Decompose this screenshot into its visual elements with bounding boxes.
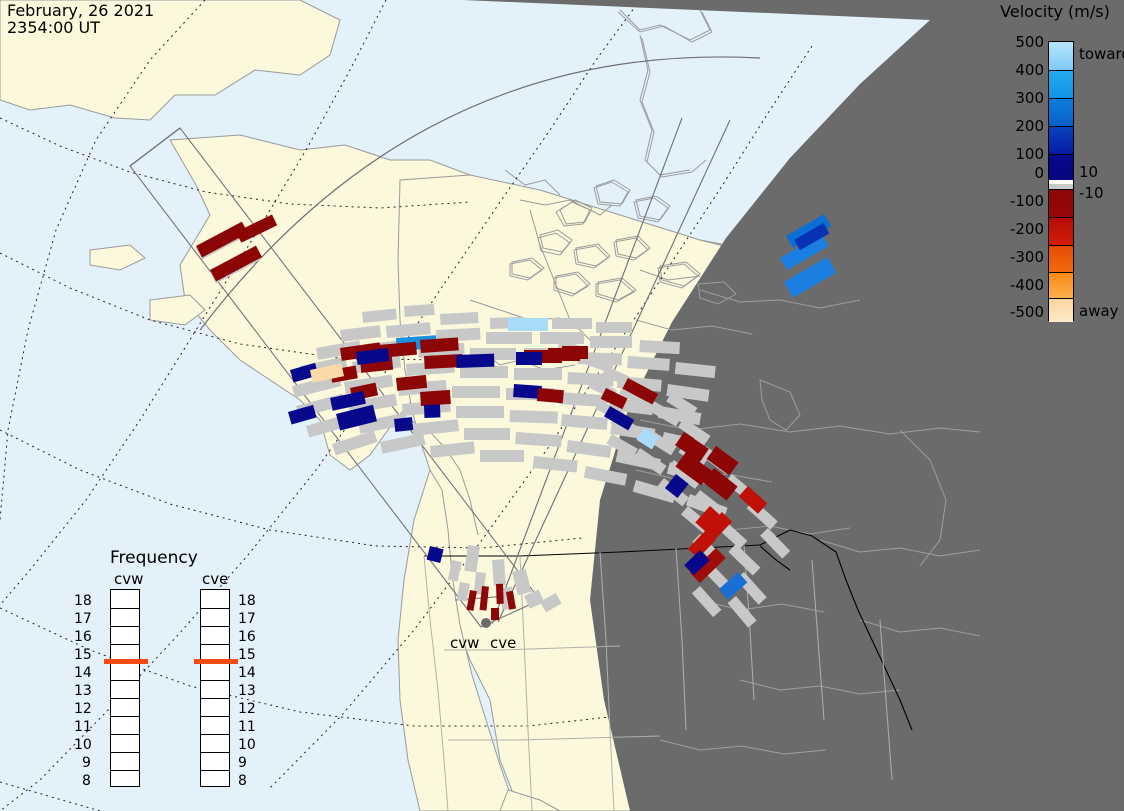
map-canvas[interactable]: cvw cve — [0, 0, 980, 811]
title-date: February, 26 2021 — [7, 2, 154, 19]
freq-tick-label-cve-8: 8 — [238, 773, 247, 789]
freq-tick-label-cvw-16: 16 — [74, 629, 92, 645]
colorbar-tick-neg300: -300 — [990, 248, 1044, 266]
radar-site-marker — [481, 618, 491, 628]
colorbar-away-label: away — [1079, 302, 1119, 320]
colorbar-segment-neg150 — [1049, 217, 1073, 245]
freq-tick-label-cvw-12: 12 — [74, 701, 92, 717]
freq-tick-label-cvw-8: 8 — [82, 773, 91, 789]
freq-tick-label-cve-10: 10 — [238, 737, 256, 753]
colorbar-neg-threshold-label: -10 — [1079, 184, 1104, 202]
freq-tick-label-cve-15: 15 — [238, 647, 256, 663]
freq-tick-label-cve-13: 13 — [238, 683, 256, 699]
freq-tick-label-cve-16: 16 — [238, 629, 256, 645]
freq-tick-label-cvw-15: 15 — [74, 647, 92, 663]
freq-tick-label-cve-11: 11 — [238, 719, 256, 735]
colorbar-toward-label: toward — [1079, 45, 1124, 63]
colorbar-tick-200: 200 — [990, 117, 1044, 135]
colorbar-segment-55 — [1049, 154, 1073, 180]
freq-tick-label-cvw-18: 18 — [74, 593, 92, 609]
superdarn-velocity-map: cvw cve February, 26 2021 2354:00 UT Fre… — [0, 0, 1124, 811]
frequency-marker-cve — [194, 659, 238, 664]
colorbar-segment-250 — [1049, 98, 1073, 126]
map-label-cvw: cvw — [450, 634, 479, 652]
colorbar-segment-zero — [1049, 180, 1073, 189]
freq-tick-label-cvw-11: 11 — [74, 719, 92, 735]
map-label-cve: cve — [490, 634, 516, 652]
frequency-radar-name-cvw: cvw — [114, 570, 143, 588]
colorbar-segment-450 — [1049, 42, 1073, 70]
velocity-colorbar-panel: Velocity (m/s) 500 400 300 200 100 0 -10… — [980, 0, 1124, 811]
freq-tick-label-cve-17: 17 — [238, 611, 256, 627]
colorbar-segment-350 — [1049, 70, 1073, 98]
freq-tick-label-cve-12: 12 — [238, 701, 256, 717]
colorbar-segment-150 — [1049, 126, 1073, 154]
colorbar-tick-0: 0 — [990, 164, 1044, 182]
frequency-marker-cvw — [104, 659, 148, 664]
title-time: 2354:00 UT — [7, 19, 154, 36]
freq-tick-label-cvw-14: 14 — [74, 665, 92, 681]
frequency-scale-cvw[interactable] — [110, 589, 140, 787]
cell-light-blue — [508, 318, 548, 331]
colorbar-tick-neg100: -100 — [990, 192, 1044, 210]
colorbar-segment-neg250 — [1049, 245, 1073, 272]
freq-tick-label-cvw-9: 9 — [82, 755, 91, 771]
colorbar-tick-neg200: -200 — [990, 220, 1044, 238]
frequency-legend-title: Frequency — [110, 548, 198, 568]
frequency-scale-cve[interactable] — [200, 589, 230, 787]
freq-tick-label-cvw-13: 13 — [74, 683, 92, 699]
colorbar-tick-neg400: -400 — [990, 276, 1044, 294]
map-graphics — [0, 0, 980, 811]
colorbar-segment-neg55 — [1049, 189, 1073, 217]
freq-tick-label-cve-18: 18 — [238, 593, 256, 609]
colorbar-tick-300: 300 — [990, 89, 1044, 107]
frequency-radar-name-cve: cve — [202, 570, 228, 588]
colorbar-segment-neg450 — [1049, 298, 1073, 322]
freq-tick-label-cve-9: 9 — [238, 755, 247, 771]
freq-tick-label-cve-14: 14 — [238, 665, 256, 681]
colorbar-tick-500: 500 — [990, 33, 1044, 51]
colorbar-segment-neg350 — [1049, 272, 1073, 298]
colorbar-pos-threshold-label: 10 — [1079, 163, 1098, 181]
colorbar-tick-labels: 500 400 300 200 100 0 -100 -200 -300 -40… — [984, 0, 1044, 811]
timestamp-title: February, 26 2021 2354:00 UT — [7, 2, 154, 36]
freq-tick-label-cvw-17: 17 — [74, 611, 92, 627]
colorbar-tick-100: 100 — [990, 145, 1044, 163]
colorbar-gradient[interactable] — [1048, 41, 1074, 321]
colorbar-tick-400: 400 — [990, 61, 1044, 79]
colorbar-tick-neg500: -500 — [990, 303, 1044, 321]
freq-tick-label-cvw-10: 10 — [74, 737, 92, 753]
